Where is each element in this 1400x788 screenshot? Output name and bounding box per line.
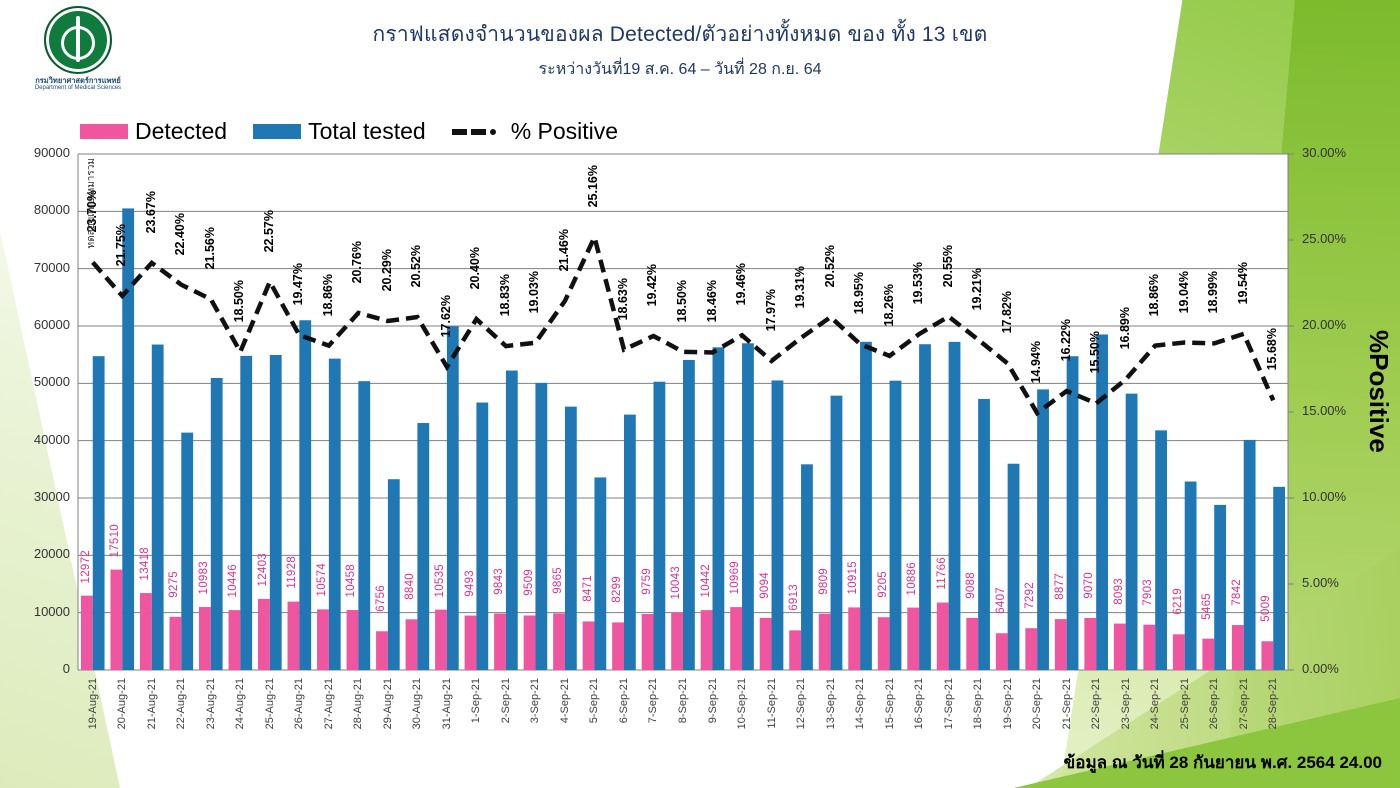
chart-legend: Detected Total tested % Positive — [80, 118, 618, 145]
bar-value-label-detected: 5465 — [1201, 593, 1213, 620]
legend-dashed-line-icon — [452, 129, 504, 135]
bar-value-label-detected: 5009 — [1260, 595, 1272, 622]
bar-value-label-detected: 8093 — [1113, 578, 1125, 605]
legend-label-detected: Detected — [135, 118, 227, 145]
bar-value-label-detected: 17510 — [109, 524, 121, 557]
line-value-label-pct-positive: 20.76% — [350, 241, 364, 283]
line-value-label-pct-positive: 18.86% — [1147, 274, 1161, 316]
line-value-label-pct-positive: 22.40% — [173, 213, 187, 255]
line-value-label-pct-positive: 18.63% — [616, 278, 630, 320]
line-value-label-pct-positive: 25.16% — [586, 165, 600, 207]
x-axis-tick-label: 24-Sep-21 — [1149, 678, 1161, 729]
bar-value-label-detected: 12972 — [80, 550, 92, 583]
line-value-label-pct-positive: 21.56% — [203, 227, 217, 269]
x-axis-tick-label: 25-Sep-21 — [1179, 678, 1191, 729]
line-value-label-pct-positive: 18.50% — [232, 280, 246, 322]
bar-value-label-detected: 9205 — [877, 571, 889, 598]
line-value-label-pct-positive: 21.46% — [557, 229, 571, 271]
bar-value-label-detected: 9759 — [641, 568, 653, 595]
x-axis-tick-label: 26-Aug-21 — [293, 678, 305, 729]
bar-value-label-detected: 9809 — [818, 568, 830, 595]
bar-value-label-detected: 13418 — [139, 547, 151, 580]
x-axis-tick-label: 5-Sep-21 — [588, 678, 600, 723]
x-axis-tick-label: 19-Aug-21 — [87, 678, 99, 729]
x-axis-tick-label: 4-Sep-21 — [559, 678, 571, 723]
bar-value-label-detected: 6756 — [375, 585, 387, 612]
line-value-label-pct-positive: 20.52% — [823, 245, 837, 287]
line-value-label-pct-positive: 20.40% — [468, 247, 482, 289]
y-axis-tick-left: 70000 — [10, 260, 70, 275]
bar-value-label-detected: 8877 — [1054, 573, 1066, 600]
line-value-label-pct-positive: 18.46% — [705, 280, 719, 322]
x-axis-tick-label: 23-Sep-21 — [1120, 678, 1132, 729]
x-axis-tick-label: 17-Sep-21 — [943, 678, 955, 729]
legend-swatch-total-tested-icon — [253, 124, 301, 139]
bar-value-label-detected: 9843 — [493, 568, 505, 595]
line-value-label-pct-positive: 21.75% — [114, 224, 128, 266]
legend-item-total-tested: Total tested — [253, 118, 426, 145]
chart-title-block: กราฟแสดงจำนวนของผล Detected/ตัวอย่างทั้ง… — [230, 18, 1130, 82]
x-axis-tick-label: 28-Sep-21 — [1267, 678, 1279, 729]
legend-swatch-detected-icon — [80, 124, 128, 139]
right-axis-title: %Positive — [1363, 330, 1394, 453]
x-axis-tick-label: 19-Sep-21 — [1002, 678, 1014, 729]
x-axis-tick-label: 10-Sep-21 — [736, 678, 748, 729]
line-value-label-pct-positive: 19.03% — [527, 271, 541, 313]
x-axis-tick-label: 31-Aug-21 — [441, 678, 453, 729]
line-value-label-pct-positive: 18.26% — [882, 284, 896, 326]
x-axis-tick-label: 2-Sep-21 — [500, 678, 512, 723]
x-axis-tick-label: 13-Sep-21 — [825, 678, 837, 729]
bar-value-label-detected: 11928 — [286, 556, 298, 589]
line-value-label-pct-positive: 15.50% — [1088, 331, 1102, 373]
page-subtitle: ระหว่างวันที่19 ส.ค. 64 – วันที่ 28 ก.ย.… — [230, 57, 1130, 82]
y-axis-tick-left: 90000 — [10, 145, 70, 160]
bar-value-label-detected: 6913 — [788, 584, 800, 611]
logo-caption-en: Department of Medical Sciences — [18, 85, 138, 91]
line-value-label-pct-positive: 18.86% — [321, 274, 335, 316]
plot-note-label: ทดสอบแบบเหมารวม — [84, 158, 99, 248]
bar-value-label-detected: 6407 — [995, 587, 1007, 614]
x-axis-tick-label: 22-Sep-21 — [1090, 678, 1102, 729]
line-value-label-pct-positive: 15.68% — [1265, 328, 1279, 370]
bar-value-label-detected: 8840 — [404, 573, 416, 600]
line-value-label-pct-positive: 19.53% — [911, 262, 925, 304]
x-axis-tick-label: 8-Sep-21 — [677, 678, 689, 723]
y-axis-tick-right: 5.00% — [1302, 575, 1372, 590]
x-axis-tick-label: 11-Sep-21 — [766, 678, 778, 729]
line-value-label-pct-positive: 20.52% — [409, 245, 423, 287]
x-axis-tick-label: 27-Aug-21 — [323, 678, 335, 729]
y-axis-tick-right: 15.00% — [1302, 403, 1372, 418]
line-value-label-pct-positive: 17.82% — [1000, 291, 1014, 333]
bar-value-label-detected: 10969 — [729, 561, 741, 594]
y-axis-tick-right: 10.00% — [1302, 489, 1372, 504]
x-axis-tick-label: 29-Aug-21 — [382, 678, 394, 729]
line-value-label-pct-positive: 20.29% — [380, 249, 394, 291]
y-axis-tick-right: 20.00% — [1302, 317, 1372, 332]
bar-value-label-detected: 10043 — [670, 566, 682, 599]
x-axis-tick-label: 24-Aug-21 — [234, 678, 246, 729]
line-value-label-pct-positive: 22.57% — [262, 210, 276, 252]
bar-value-label-detected: 10458 — [345, 564, 357, 597]
ministry-of-public-health-seal-icon — [44, 6, 112, 74]
y-axis-tick-left: 80000 — [10, 202, 70, 217]
bar-value-label-detected: 8299 — [611, 576, 623, 603]
bar-value-label-detected: 9865 — [552, 567, 564, 594]
line-value-label-pct-positive: 19.42% — [645, 264, 659, 306]
page-title: กราฟแสดงจำนวนของผล Detected/ตัวอย่างทั้ง… — [230, 18, 1130, 51]
line-value-label-pct-positive: 19.21% — [970, 268, 984, 310]
line-value-label-pct-positive: 18.99% — [1206, 271, 1220, 313]
y-axis-tick-left: 10000 — [10, 604, 70, 619]
y-axis-tick-left: 50000 — [10, 374, 70, 389]
bar-value-label-detected: 10983 — [198, 561, 210, 594]
bar-value-label-detected: 7292 — [1024, 582, 1036, 609]
bar-value-label-detected: 10442 — [700, 564, 712, 597]
y-axis-tick-right: 30.00% — [1302, 145, 1372, 160]
logo-caption-th: กรมวิทยาศาสตร์การแพทย์ — [18, 77, 138, 85]
legend-label-total-tested: Total tested — [308, 118, 426, 145]
x-axis-tick-label: 27-Sep-21 — [1238, 678, 1250, 729]
line-value-label-pct-positive: 18.50% — [675, 280, 689, 322]
x-axis-tick-label: 30-Aug-21 — [411, 678, 423, 729]
x-axis-tick-label: 25-Aug-21 — [264, 678, 276, 729]
line-value-label-pct-positive: 16.89% — [1118, 307, 1132, 349]
bar-value-label-detected: 9493 — [464, 570, 476, 597]
bar-value-label-detected: 12403 — [257, 553, 269, 586]
x-axis-tick-label: 15-Sep-21 — [884, 678, 896, 729]
bar-value-label-detected: 10535 — [434, 564, 446, 597]
line-value-label-pct-positive: 18.95% — [852, 272, 866, 314]
x-axis-tick-label: 7-Sep-21 — [647, 678, 659, 723]
bar-value-label-detected: 8471 — [582, 575, 594, 602]
bar-value-label-detected: 9094 — [759, 572, 771, 599]
x-axis-tick-label: 18-Sep-21 — [972, 678, 984, 729]
x-axis-tick-label: 23-Aug-21 — [205, 678, 217, 729]
line-value-label-pct-positive: 20.55% — [941, 245, 955, 287]
line-value-label-pct-positive: 17.62% — [439, 295, 453, 337]
x-axis-tick-label: 26-Sep-21 — [1208, 678, 1220, 729]
x-axis-tick-label: 20-Aug-21 — [116, 678, 128, 729]
x-axis-tick-label: 6-Sep-21 — [618, 678, 630, 723]
bar-value-label-detected: 9070 — [1083, 572, 1095, 599]
line-value-label-pct-positive: 16.22% — [1059, 319, 1073, 361]
y-axis-tick-right: 25.00% — [1302, 231, 1372, 246]
line-value-label-pct-positive: 19.31% — [793, 266, 807, 308]
x-axis-tick-label: 9-Sep-21 — [707, 678, 719, 723]
line-value-label-pct-positive: 14.94% — [1029, 341, 1043, 383]
x-axis-tick-label: 22-Aug-21 — [175, 678, 187, 729]
bar-value-label-detected: 9088 — [965, 572, 977, 599]
line-value-label-pct-positive: 19.47% — [291, 263, 305, 305]
bar-value-label-detected: 9275 — [168, 571, 180, 598]
bar-value-label-detected: 7842 — [1231, 579, 1243, 606]
x-axis-tick-label: 21-Aug-21 — [146, 678, 158, 729]
legend-label-pct-positive: % Positive — [511, 118, 618, 145]
x-axis-tick-label: 20-Sep-21 — [1031, 678, 1043, 729]
line-value-label-pct-positive: 19.04% — [1177, 271, 1191, 313]
legend-item-pct-positive: % Positive — [452, 118, 618, 145]
x-axis-tick-label: 3-Sep-21 — [529, 678, 541, 723]
x-axis-tick-label: 14-Sep-21 — [854, 678, 866, 729]
y-axis-tick-left: 0 — [10, 661, 70, 676]
bar-value-label-detected: 6219 — [1172, 588, 1184, 615]
organization-logo: กรมวิทยาศาสตร์การแพทย์ Department of Med… — [18, 6, 138, 86]
x-axis-tick-label: 16-Sep-21 — [913, 678, 925, 729]
data-timestamp-footer: ข้อมูล ณ วันที่ 28 กันยายน พ.ศ. 2564 24.… — [1064, 749, 1382, 776]
line-value-label-pct-positive: 17.97% — [764, 289, 778, 331]
bar-value-label-detected: 10915 — [847, 561, 859, 594]
line-value-label-pct-positive: 19.54% — [1236, 262, 1250, 304]
y-axis-tick-left: 20000 — [10, 546, 70, 561]
line-value-label-pct-positive: 19.46% — [734, 263, 748, 305]
y-axis-tick-left: 60000 — [10, 317, 70, 332]
line-value-label-pct-positive: 23.67% — [144, 191, 158, 233]
x-axis-tick-label: 12-Sep-21 — [795, 678, 807, 729]
x-axis-tick-label: 28-Aug-21 — [352, 678, 364, 729]
bar-value-label-detected: 10446 — [227, 564, 239, 597]
bar-value-label-detected: 10574 — [316, 563, 328, 596]
y-axis-tick-right: 0.00% — [1302, 661, 1372, 676]
legend-item-detected: Detected — [80, 118, 227, 145]
y-axis-tick-left: 30000 — [10, 489, 70, 504]
bar-value-label-detected: 7903 — [1142, 579, 1154, 606]
line-value-label-pct-positive: 18.83% — [498, 274, 512, 316]
bar-value-label-detected: 11766 — [936, 557, 948, 590]
bar-value-label-detected: 10886 — [906, 562, 918, 595]
x-axis-tick-label: 21-Sep-21 — [1061, 678, 1073, 729]
y-axis-tick-left: 40000 — [10, 432, 70, 447]
bar-value-label-detected: 9509 — [523, 569, 535, 596]
x-axis-tick-label: 1-Sep-21 — [470, 678, 482, 723]
